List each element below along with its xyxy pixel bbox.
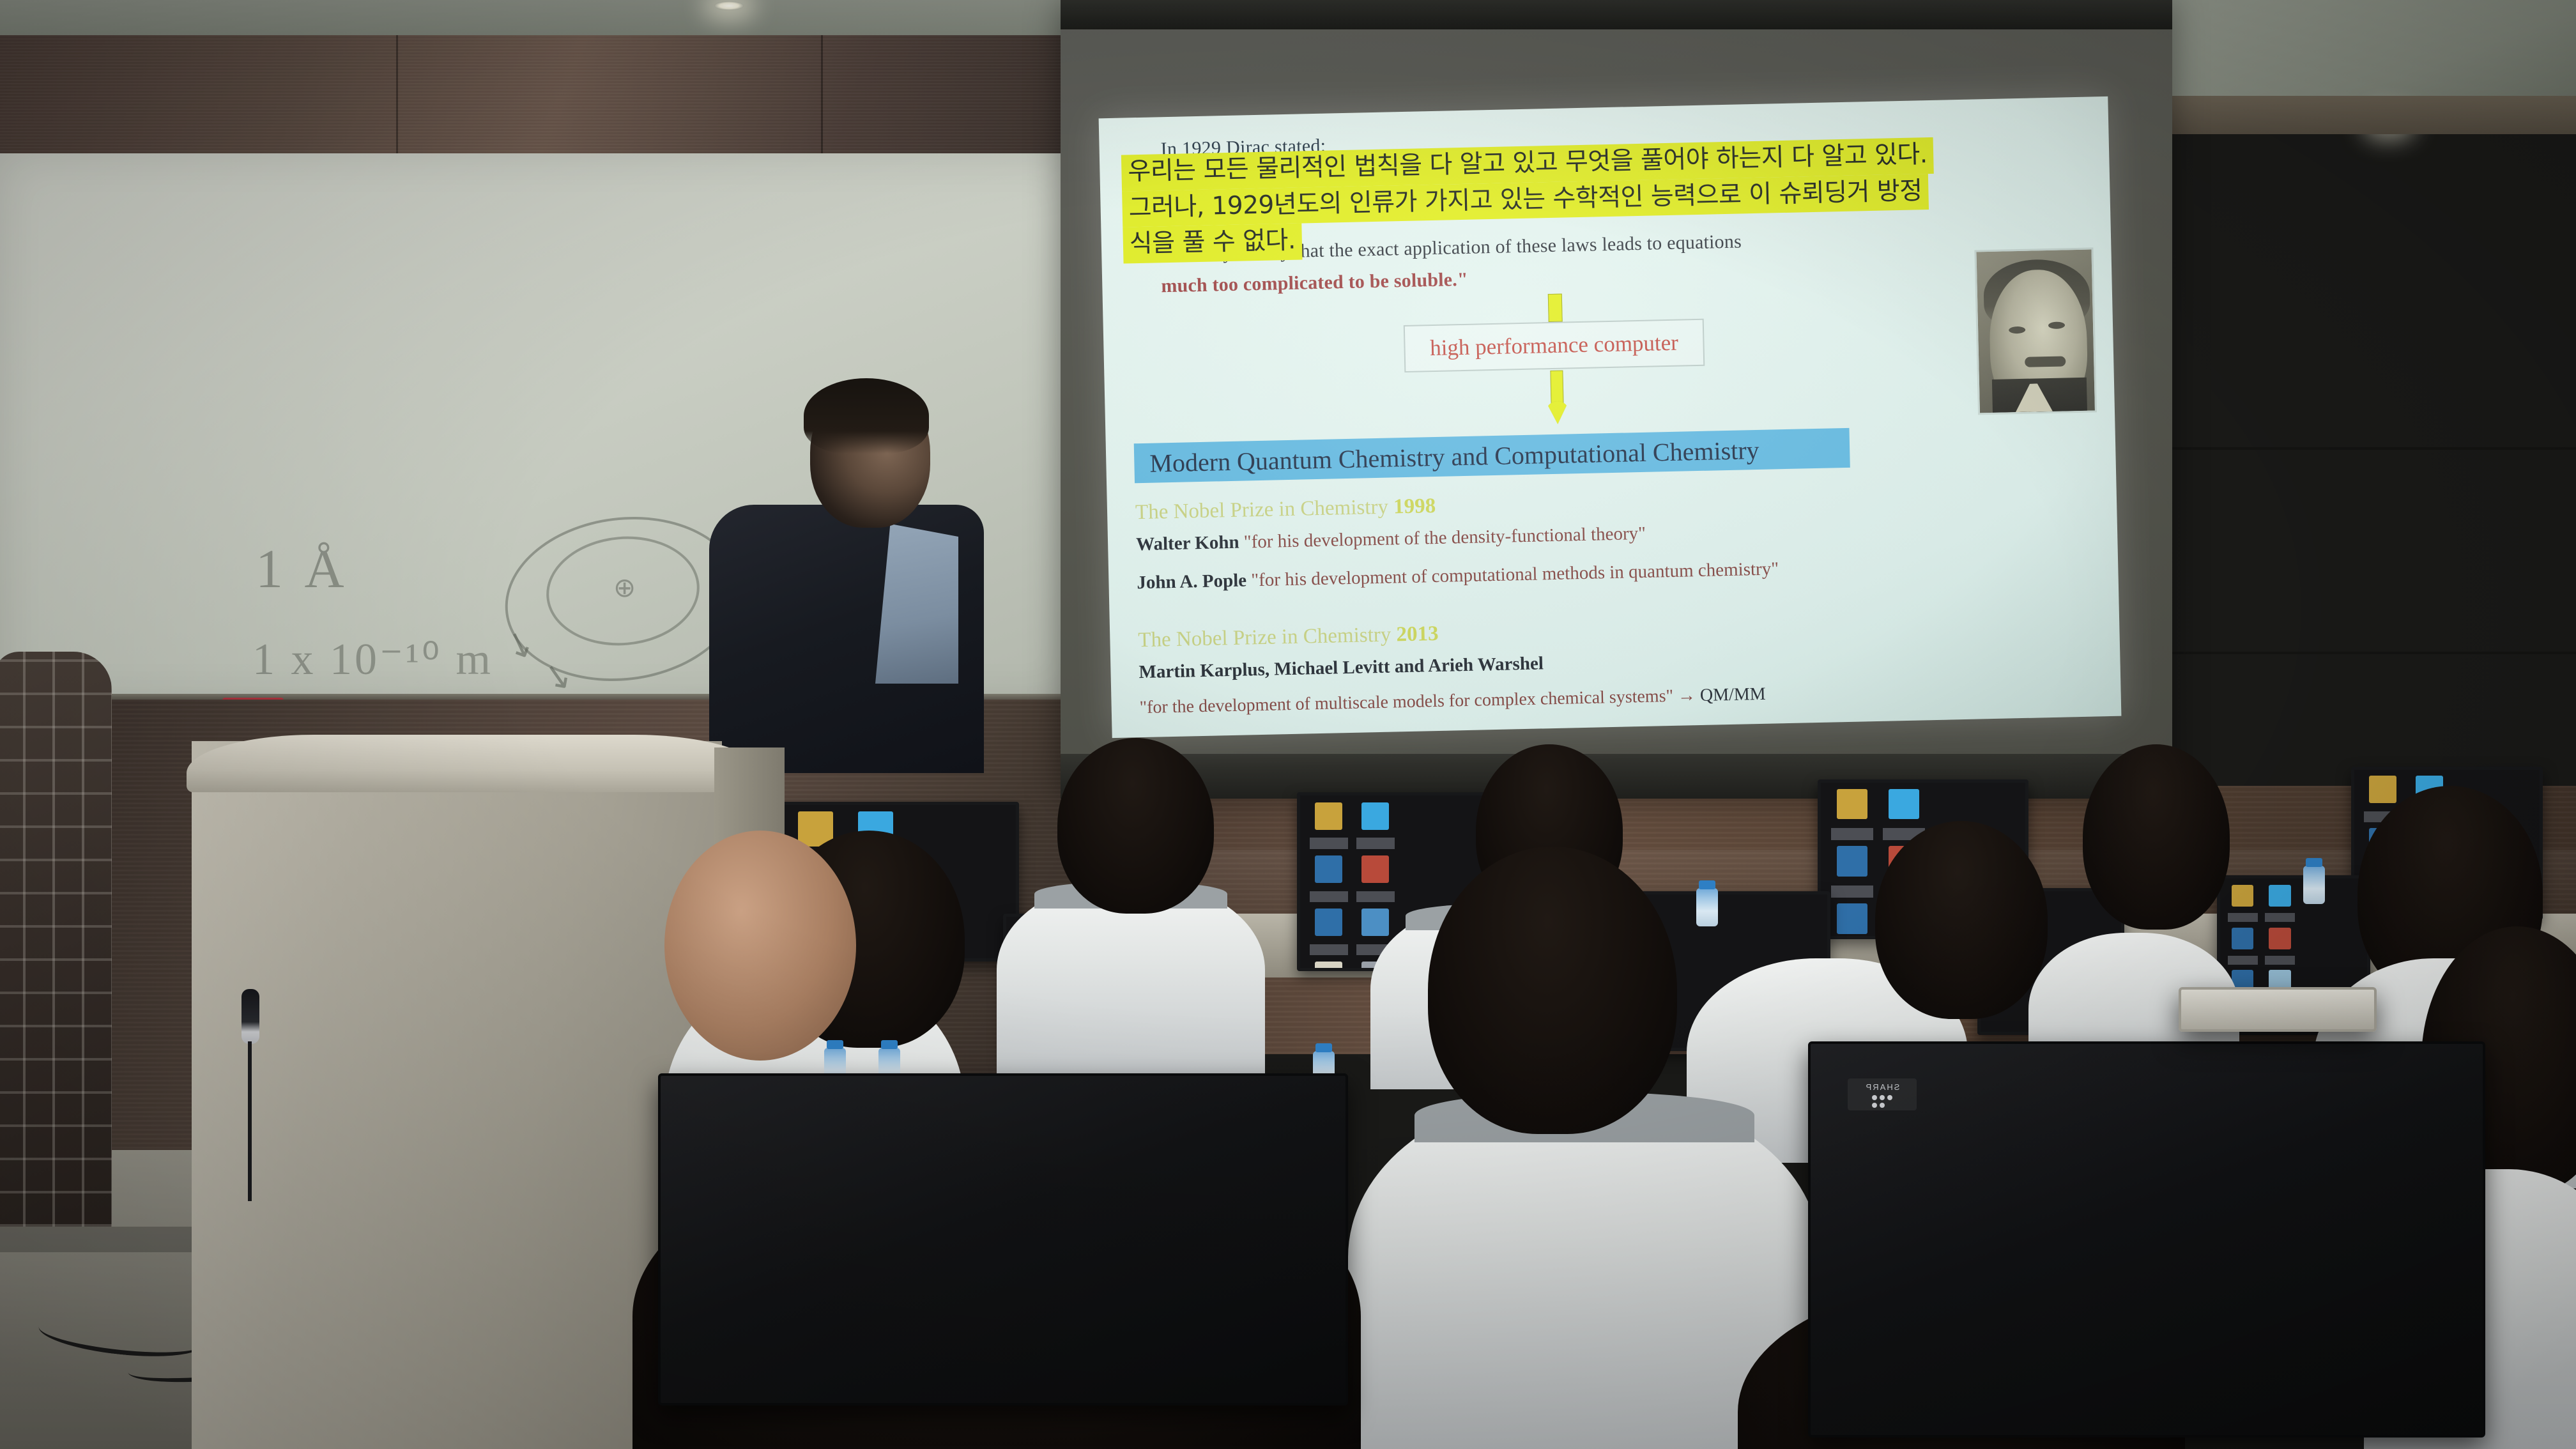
desktop-icon[interactable]	[1831, 789, 1873, 841]
keyboard-foreground[interactable]	[2179, 987, 2377, 1032]
slide-english-red-line: much too complicated to be soluble."	[1161, 269, 1468, 297]
bottle-cap	[2306, 858, 2322, 867]
person-in-plaid-shirt	[0, 652, 112, 1227]
desktop-icon[interactable]	[1310, 908, 1348, 955]
nobel-citation-kohn: "for his development of the density-func…	[1243, 523, 1646, 553]
nobel-heading-text-1998: The Nobel Prize in Chemistry	[1135, 495, 1394, 524]
whiteboard-nucleus-label: ⊕	[613, 572, 636, 604]
desktop-icon[interactable]	[2265, 885, 2296, 922]
nobel-citation-pople: "for his development of computational me…	[1251, 558, 1779, 590]
microphone-cable	[248, 1041, 252, 1201]
water-bottle-4[interactable]	[1696, 888, 1718, 926]
hpc-label: high performance computer	[1430, 330, 1679, 361]
desktop-icon[interactable]	[2228, 885, 2258, 922]
whiteboard-meters-note: 1 x 10⁻¹⁰ m	[252, 632, 493, 686]
nobel-entry-pople: John A. Pople "for his development of co…	[1137, 558, 1779, 594]
nobel-laureate-name-pople: John A. Pople	[1137, 570, 1252, 593]
monitor-back-panel-right[interactable]: SHARP	[1808, 1041, 2485, 1437]
desktop-icon[interactable]	[1883, 789, 1925, 841]
whiteboard-angstrom-note: 1 Å	[256, 537, 348, 601]
portrait-moustache	[2025, 356, 2066, 367]
student-e-head	[2083, 744, 2230, 930]
bottle-cap	[1315, 1043, 1332, 1052]
desktop-icon[interactable]	[2265, 928, 2296, 965]
nobel-laureate-names-2013: Martin Karplus, Michael Levitt and Arieh…	[1138, 653, 1544, 682]
korean-line-3: 식을 풀 수 없다.	[1123, 224, 1302, 264]
desktop-icon[interactable]	[1831, 903, 1873, 939]
desktop-icon[interactable]	[1310, 962, 1348, 971]
desktop-icon[interactable]	[1356, 855, 1395, 902]
projection-screen-housing	[1061, 0, 2172, 29]
desktop-icon[interactable]	[1831, 846, 1873, 898]
whiteboard-arrow-upper: ↖	[499, 622, 540, 670]
wall-panel-seam-right-2	[2127, 652, 2576, 654]
microphone[interactable]	[241, 989, 259, 1044]
lecture-hall-photo: 1 Å 1 x 10⁻¹⁰ m ⊕ ↖ ↖ In 1929 Dirac stat…	[0, 0, 2576, 1449]
nobel-entry-kohn: Walter Kohn "for his development of the …	[1136, 523, 1646, 555]
desktop-icon[interactable]	[1356, 802, 1395, 849]
presentation-slide: In 1929 Dirac stated: difficulty is only…	[1099, 96, 2122, 738]
down-arrow-icon	[1545, 370, 1569, 424]
dirac-portrait-photo	[1974, 247, 2097, 415]
student-b-head	[1057, 738, 1214, 914]
qm-mm-tag: QM/MM	[1700, 684, 1766, 705]
wall-panel-seam-right-1	[2127, 447, 2576, 450]
nobel-laureate-name-kohn: Walter Kohn	[1136, 532, 1244, 555]
desktop-icon[interactable]	[2228, 928, 2258, 965]
desktop-icon[interactable]	[1310, 802, 1348, 849]
sharp-wordmark: SHARP	[1848, 1082, 1917, 1092]
sharp-logo-badge: SHARP	[1848, 1078, 1917, 1110]
modern-quantum-chemistry-bar: Modern Quantum Chemistry and Computation…	[1134, 428, 1850, 483]
student-g-head	[1428, 847, 1677, 1134]
sharp-logo-dots	[1872, 1095, 1892, 1108]
nobel-heading-2013: The Nobel Prize in Chemistry 2013	[1138, 622, 1439, 652]
nobel-citation-2013: "for the development of multiscale model…	[1139, 684, 1766, 718]
desktop-icon-grid-2	[1310, 802, 1395, 961]
nobel-year-2013: 2013	[1396, 622, 1439, 646]
high-performance-computer-box: high performance computer	[1404, 319, 1705, 372]
nobel-citation-2013-text: "for the development of multiscale model…	[1139, 686, 1700, 717]
water-bottle-5[interactable]	[2303, 866, 2325, 904]
nobel-year-1998: 1998	[1393, 494, 1436, 518]
ceiling-light-left	[714, 1, 744, 10]
mqc-label: Modern Quantum Chemistry and Computation…	[1149, 434, 1759, 478]
desktop-icon[interactable]	[1310, 855, 1348, 902]
nobel-heading-1998: The Nobel Prize in Chemistry 1998	[1135, 494, 1436, 525]
slide-korean-highlight-block: 우리는 모든 물리적인 법칙을 다 알고 있고 무엇을 풀어야 하는지 다 알고…	[1121, 137, 1973, 264]
wall-soffit-right	[2127, 96, 2576, 134]
bottle-cap	[1699, 880, 1715, 889]
bottle-cap	[881, 1040, 898, 1049]
lectern-top	[187, 735, 762, 792]
monitor-back-panel-left[interactable]	[658, 1073, 1348, 1406]
arrow-segment-top	[1548, 294, 1563, 322]
student-a-arm	[664, 831, 856, 1061]
bottle-cap	[827, 1040, 843, 1049]
lecturer-hair	[804, 378, 929, 454]
student-d-head	[1875, 821, 2048, 1019]
nobel-heading-text-2013: The Nobel Prize in Chemistry	[1138, 623, 1397, 652]
nobel-entry-2013-names: Martin Karplus, Michael Levitt and Arieh…	[1138, 653, 1544, 683]
wall-panel-upper-left	[0, 35, 1080, 157]
